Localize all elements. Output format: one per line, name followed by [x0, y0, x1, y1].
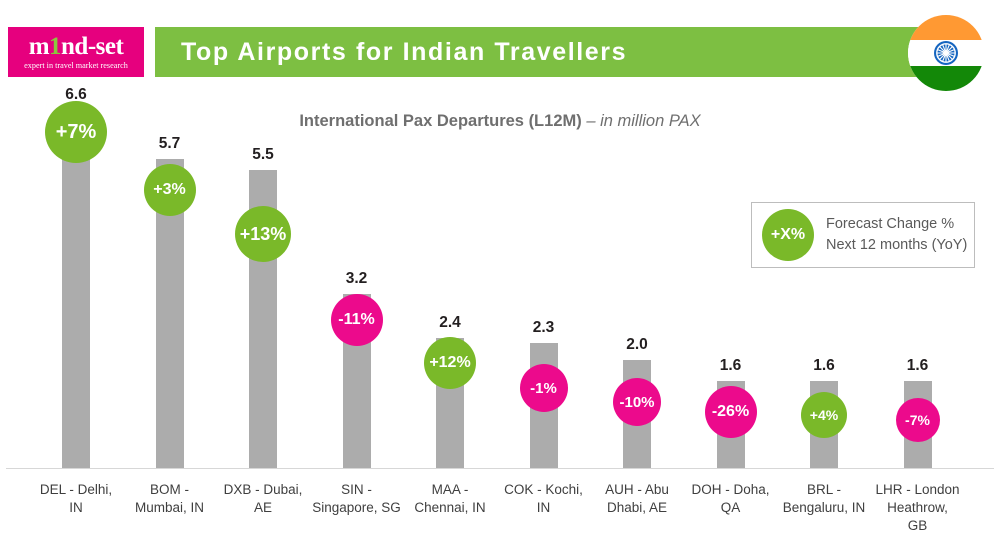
- forecast-change-badge[interactable]: -11%: [331, 294, 383, 346]
- bar-value-label: 1.6: [870, 357, 966, 375]
- category-label: BRL -Bengaluru, IN: [774, 481, 874, 517]
- legend-text: Forecast Change % Next 12 months (YoY): [826, 214, 967, 255]
- bar-value-label: 5.5: [215, 146, 311, 164]
- forecast-change-badge[interactable]: +3%: [144, 164, 196, 216]
- category-label-line: Dhabi, AE: [587, 499, 687, 517]
- legend-line-2: Next 12 months (YoY): [826, 235, 967, 256]
- chart-column[interactable]: 5.5+13%DXB - Dubai,AE: [215, 0, 311, 560]
- category-label-line: LHR - London: [868, 481, 968, 499]
- chart-column[interactable]: 1.6+4%BRL -Bengaluru, IN: [776, 0, 872, 560]
- category-label-line: Heathrow,: [868, 499, 968, 517]
- category-label-line: GB: [868, 517, 968, 535]
- forecast-change-badge[interactable]: -26%: [705, 386, 757, 438]
- category-label-line: DXB - Dubai,: [213, 481, 313, 499]
- category-label: DXB - Dubai,AE: [213, 481, 313, 517]
- forecast-change-badge[interactable]: -7%: [896, 398, 940, 442]
- category-label-line: AE: [213, 499, 313, 517]
- legend-badge: +X%: [762, 209, 814, 261]
- category-label: BOM -Mumbai, IN: [120, 481, 220, 517]
- chart-column[interactable]: 3.2-11%SIN -Singapore, SG: [309, 0, 405, 560]
- forecast-change-badge[interactable]: -10%: [613, 378, 661, 426]
- category-label-line: DEL - Delhi,: [26, 481, 126, 499]
- forecast-change-badge[interactable]: +7%: [45, 101, 107, 163]
- category-label: DOH - Doha,QA: [681, 481, 781, 517]
- category-label: SIN -Singapore, SG: [307, 481, 407, 517]
- category-label: COK - Kochi,IN: [494, 481, 594, 517]
- category-label-line: Chennai, IN: [400, 499, 500, 517]
- chart-legend: +X% Forecast Change % Next 12 months (Yo…: [751, 202, 975, 268]
- bar[interactable]: [62, 110, 90, 468]
- legend-line-1: Forecast Change %: [826, 214, 967, 235]
- category-label-line: Singapore, SG: [307, 499, 407, 517]
- forecast-change-badge[interactable]: -1%: [520, 364, 568, 412]
- category-label-line: IN: [494, 499, 594, 517]
- chart-column[interactable]: 2.3-1%COK - Kochi,IN: [496, 0, 592, 560]
- bar-value-label: 2.0: [589, 336, 685, 354]
- category-label: AUH - AbuDhabi, AE: [587, 481, 687, 517]
- forecast-change-badge[interactable]: +4%: [801, 392, 847, 438]
- forecast-change-badge[interactable]: +12%: [424, 337, 476, 389]
- bar-value-label: 3.2: [309, 270, 405, 288]
- category-label-line: DOH - Doha,: [681, 481, 781, 499]
- bar-value-label: 2.4: [402, 314, 498, 332]
- bar-chart: 6.6+7%DEL - Delhi,IN5.7+3%BOM -Mumbai, I…: [0, 0, 1000, 560]
- chart-column[interactable]: 5.7+3%BOM -Mumbai, IN: [122, 0, 218, 560]
- category-label: MAA -Chennai, IN: [400, 481, 500, 517]
- bar-value-label: 1.6: [776, 357, 872, 375]
- category-label-line: AUH - Abu: [587, 481, 687, 499]
- category-label-line: SIN -: [307, 481, 407, 499]
- chart-column[interactable]: 1.6-26%DOH - Doha,QA: [683, 0, 779, 560]
- category-label-line: BOM -: [120, 481, 220, 499]
- bar-value-label: 5.7: [122, 135, 218, 153]
- category-label-line: BRL -: [774, 481, 874, 499]
- category-label-line: MAA -: [400, 481, 500, 499]
- category-label: LHR - LondonHeathrow,GB: [868, 481, 968, 535]
- category-label-line: Mumbai, IN: [120, 499, 220, 517]
- category-label-line: Bengaluru, IN: [774, 499, 874, 517]
- category-label-line: COK - Kochi,: [494, 481, 594, 499]
- bar-value-label: 1.6: [683, 357, 779, 375]
- category-label-line: IN: [26, 499, 126, 517]
- chart-column[interactable]: 1.6-7%LHR - LondonHeathrow,GB: [870, 0, 966, 560]
- chart-column[interactable]: 6.6+7%DEL - Delhi,IN: [28, 0, 124, 560]
- category-label-line: QA: [681, 499, 781, 517]
- bar-value-label: 2.3: [496, 319, 592, 337]
- category-label: DEL - Delhi,IN: [26, 481, 126, 517]
- chart-column[interactable]: 2.0-10%AUH - AbuDhabi, AE: [589, 0, 685, 560]
- forecast-change-badge[interactable]: +13%: [235, 206, 291, 262]
- chart-column[interactable]: 2.4+12%MAA -Chennai, IN: [402, 0, 498, 560]
